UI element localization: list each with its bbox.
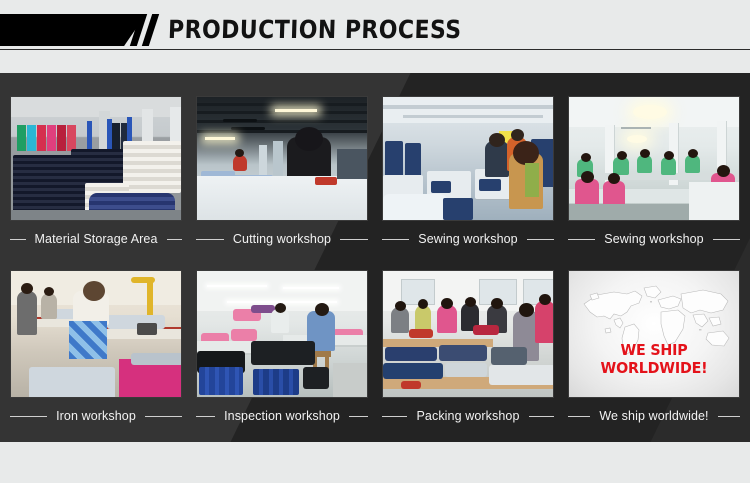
gallery-row-1: Material Storage Area	[0, 96, 750, 247]
photo-cutting-workshop[interactable]	[196, 96, 368, 221]
caption-we-ship-worldwide: We ship worldwide!	[568, 408, 740, 424]
gallery-cell-packing-workshop[interactable]: Packing workshop	[382, 270, 554, 424]
caption-packing-workshop: Packing workshop	[382, 408, 554, 424]
caption-cutting-workshop: Cutting workshop	[196, 231, 368, 247]
caption-inspection-workshop: Inspection workshop	[196, 408, 368, 424]
photo-sewing-workshop-1[interactable]	[382, 96, 554, 221]
photo-sewing-workshop-2[interactable]	[568, 96, 740, 221]
gallery-cell-sewing-workshop-1[interactable]: Sewing workshop	[382, 96, 554, 247]
caption-line-right	[713, 239, 740, 240]
photo-we-ship-worldwide[interactable]: WE SHIP WORLDWIDE!	[568, 270, 740, 398]
photo-packing-workshop[interactable]	[382, 270, 554, 398]
caption-label: Sewing workshop	[409, 232, 526, 246]
caption-line-right	[340, 239, 368, 240]
we-ship-worldwide-text: WE SHIP WORLDWIDE!	[573, 341, 735, 377]
photo-inspection-workshop[interactable]	[196, 270, 368, 398]
gallery-cell-iron-workshop[interactable]: Iron workshop	[10, 270, 182, 424]
caption-line-left	[196, 416, 215, 417]
gallery-cell-material-storage-area[interactable]: Material Storage Area	[10, 96, 182, 247]
photo-material-storage-area[interactable]	[10, 96, 182, 221]
caption-line-left	[382, 416, 407, 417]
caption-line-left	[10, 416, 47, 417]
caption-line-right	[145, 416, 182, 417]
photo-iron-workshop[interactable]	[10, 270, 182, 398]
caption-label: Inspection workshop	[215, 409, 349, 423]
caption-line-right	[349, 416, 368, 417]
caption-label: Iron workshop	[47, 409, 145, 423]
caption-line-left	[382, 239, 409, 240]
double-slash-icon	[133, 14, 165, 46]
caption-label: We ship worldwide!	[590, 409, 717, 423]
caption-line-right	[167, 239, 183, 240]
caption-line-left	[568, 416, 590, 417]
caption-label: Packing workshop	[407, 409, 528, 423]
caption-line-right	[527, 239, 554, 240]
caption-sewing-workshop-2: Sewing workshop	[568, 231, 740, 247]
gallery-cell-inspection-workshop[interactable]: Inspection workshop	[196, 270, 368, 424]
caption-line-left	[10, 239, 26, 240]
gallery-cell-we-ship-worldwide[interactable]: WE SHIP WORLDWIDE! We ship worldwide!	[568, 270, 740, 424]
caption-line-left	[568, 239, 595, 240]
caption-iron-workshop: Iron workshop	[10, 408, 182, 424]
gallery-cell-cutting-workshop[interactable]: Cutting workshop	[196, 96, 368, 247]
caption-label: Material Storage Area	[26, 232, 167, 246]
caption-line-right	[529, 416, 554, 417]
caption-material-storage-area: Material Storage Area	[10, 231, 182, 247]
page-title: PRODUCTION PROCESS	[168, 14, 463, 46]
caption-label: Cutting workshop	[224, 232, 340, 246]
caption-line-left	[196, 239, 224, 240]
caption-line-right	[718, 416, 740, 417]
production-process-panel: Material Storage Area	[0, 73, 750, 442]
page-header: PRODUCTION PROCESS	[0, 0, 750, 50]
gallery-row-2: Iron workshop	[0, 270, 750, 424]
caption-label: Sewing workshop	[595, 232, 712, 246]
caption-sewing-workshop-1: Sewing workshop	[382, 231, 554, 247]
header-divider	[0, 49, 750, 50]
gallery-cell-sewing-workshop-2[interactable]: Sewing workshop	[568, 96, 740, 247]
header-black-bar	[0, 14, 146, 46]
